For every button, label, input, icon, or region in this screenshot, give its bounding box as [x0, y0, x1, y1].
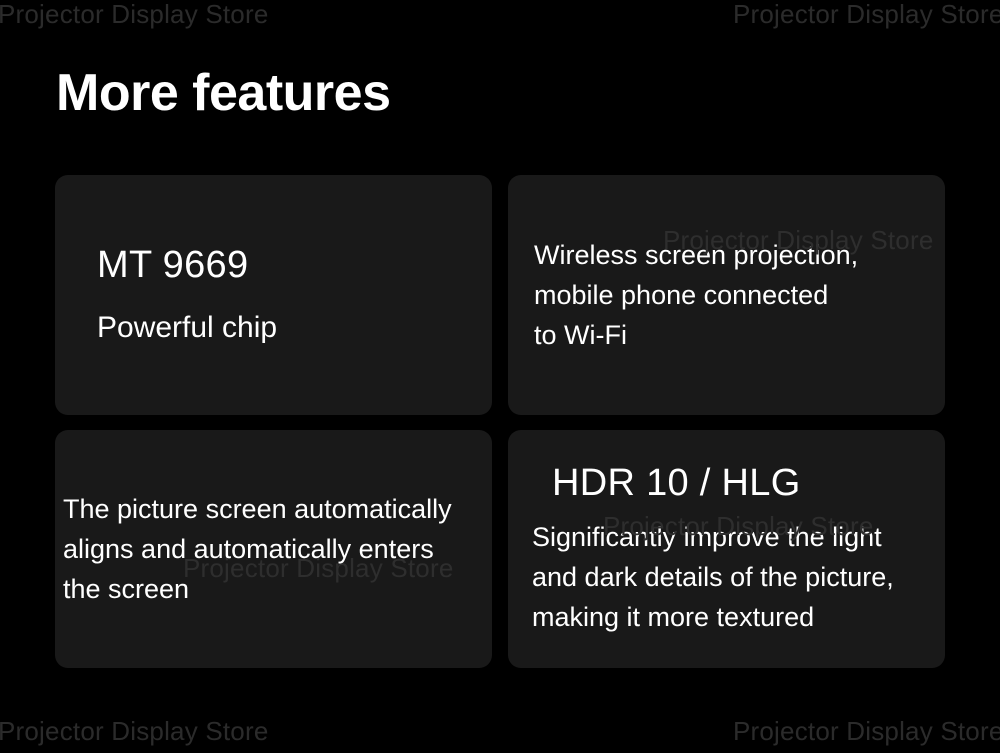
feature-card-chip-content: MT 9669 Powerful chip	[97, 243, 492, 347]
feature-slide: Projector Display Store Projector Displa…	[0, 0, 1000, 753]
feature-card-chip-title: MT 9669	[97, 243, 492, 287]
page-title: More features	[56, 62, 391, 124]
feature-card-hdr-body: Significantly improve the light and dark…	[532, 517, 945, 637]
feature-card-hdr-title: HDR 10 / HLG	[552, 461, 945, 505]
feature-card-auto-align: The picture screen automatically aligns …	[55, 430, 492, 668]
feature-card-chip: MT 9669 Powerful chip	[55, 175, 492, 415]
feature-card-auto-align-body: The picture screen automatically aligns …	[63, 489, 492, 609]
watermark-bottom-right: Projector Display Store	[733, 716, 1000, 747]
feature-card-hdr: HDR 10 / HLG Significantly improve the l…	[508, 430, 945, 668]
feature-card-wireless-body: Wireless screen projection, mobile phone…	[534, 235, 945, 355]
feature-card-chip-subtitle: Powerful chip	[97, 309, 492, 347]
watermark-bottom-left: Projector Display Store	[0, 716, 268, 747]
feature-card-grid: MT 9669 Powerful chip Wireless screen pr…	[55, 175, 945, 668]
watermark-top-right: Projector Display Store	[733, 0, 1000, 30]
watermark-top-left: Projector Display Store	[0, 0, 268, 30]
feature-card-wireless: Wireless screen projection, mobile phone…	[508, 175, 945, 415]
